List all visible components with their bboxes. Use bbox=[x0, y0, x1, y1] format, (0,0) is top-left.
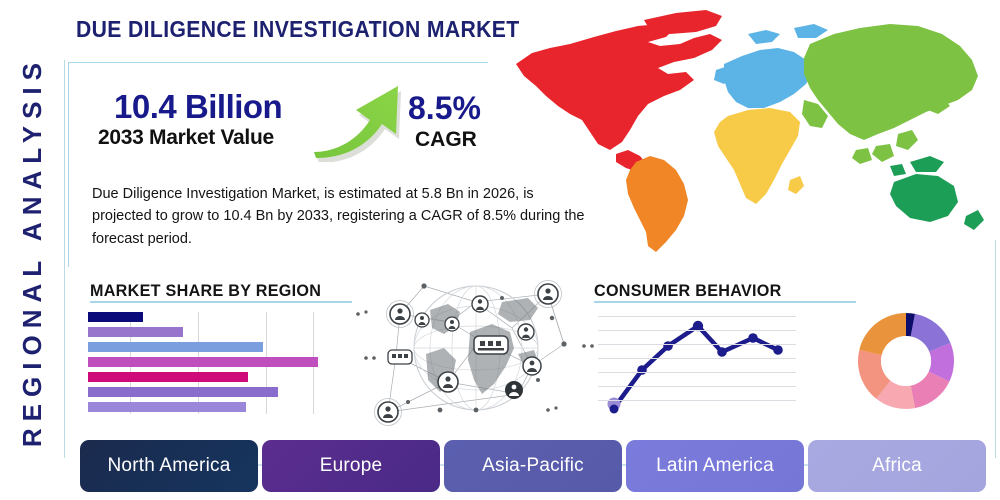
cagr-value: 8.5% bbox=[408, 90, 481, 127]
region-pill-label: North America bbox=[108, 455, 231, 477]
region-pill-label: Latin America bbox=[656, 455, 774, 477]
region-pill-latin-america[interactable]: Latin America bbox=[626, 440, 804, 492]
market-share-heading: MARKET SHARE BY REGION bbox=[90, 281, 321, 301]
region-donut-chart bbox=[855, 310, 957, 412]
market-value: 10.4 Billion bbox=[114, 88, 282, 126]
bar-4 bbox=[88, 357, 318, 367]
bar-5 bbox=[88, 372, 248, 382]
right-vertical-rule bbox=[995, 240, 997, 458]
region-pill-label: Europe bbox=[320, 455, 382, 477]
global-network-icon bbox=[352, 262, 600, 432]
hero-stats: 10.4 Billion 2033 Market Value 8.5% CAGR bbox=[90, 88, 510, 168]
region-pill-africa[interactable]: Africa bbox=[808, 440, 986, 492]
market-share-underline bbox=[90, 301, 352, 303]
bar-1 bbox=[88, 312, 143, 322]
infographic-root: REGIONAL ANALYSIS DUE DILIGENCE INVESTIG… bbox=[0, 0, 1000, 500]
region-pill-label: Asia-Pacific bbox=[482, 455, 584, 477]
bar-3 bbox=[88, 342, 263, 352]
market-value-caption: 2033 Market Value bbox=[98, 126, 274, 150]
region-pill-label: Africa bbox=[872, 455, 922, 477]
region-pill-row: North America Europe Asia-Pacific Latin … bbox=[80, 440, 990, 492]
consumer-behavior-heading: CONSUMER BEHAVIOR bbox=[594, 281, 782, 301]
growth-arrow-icon bbox=[312, 82, 422, 162]
world-map-icon bbox=[498, 4, 998, 266]
cagr-caption: CAGR bbox=[415, 128, 477, 152]
line-chart-gridlines bbox=[598, 310, 796, 414]
bar-7 bbox=[88, 402, 246, 412]
consumer-behavior-line-chart bbox=[598, 310, 796, 414]
region-pill-north-america[interactable]: North America bbox=[80, 440, 258, 492]
side-label-text: REGIONAL ANALYSIS bbox=[17, 56, 48, 447]
region-pill-asia-pacific[interactable]: Asia-Pacific bbox=[444, 440, 622, 492]
region-pill-europe[interactable]: Europe bbox=[262, 440, 440, 492]
market-share-bar-chart bbox=[88, 312, 318, 414]
bar-6 bbox=[88, 387, 278, 397]
consumer-behavior-underline bbox=[594, 301, 856, 303]
page-title: DUE DILIGENCE INVESTIGATION MARKET bbox=[76, 16, 520, 43]
bar-2 bbox=[88, 327, 183, 337]
side-vertical-rule bbox=[64, 60, 65, 458]
regional-analysis-side-label: REGIONAL ANALYSIS bbox=[6, 52, 58, 452]
